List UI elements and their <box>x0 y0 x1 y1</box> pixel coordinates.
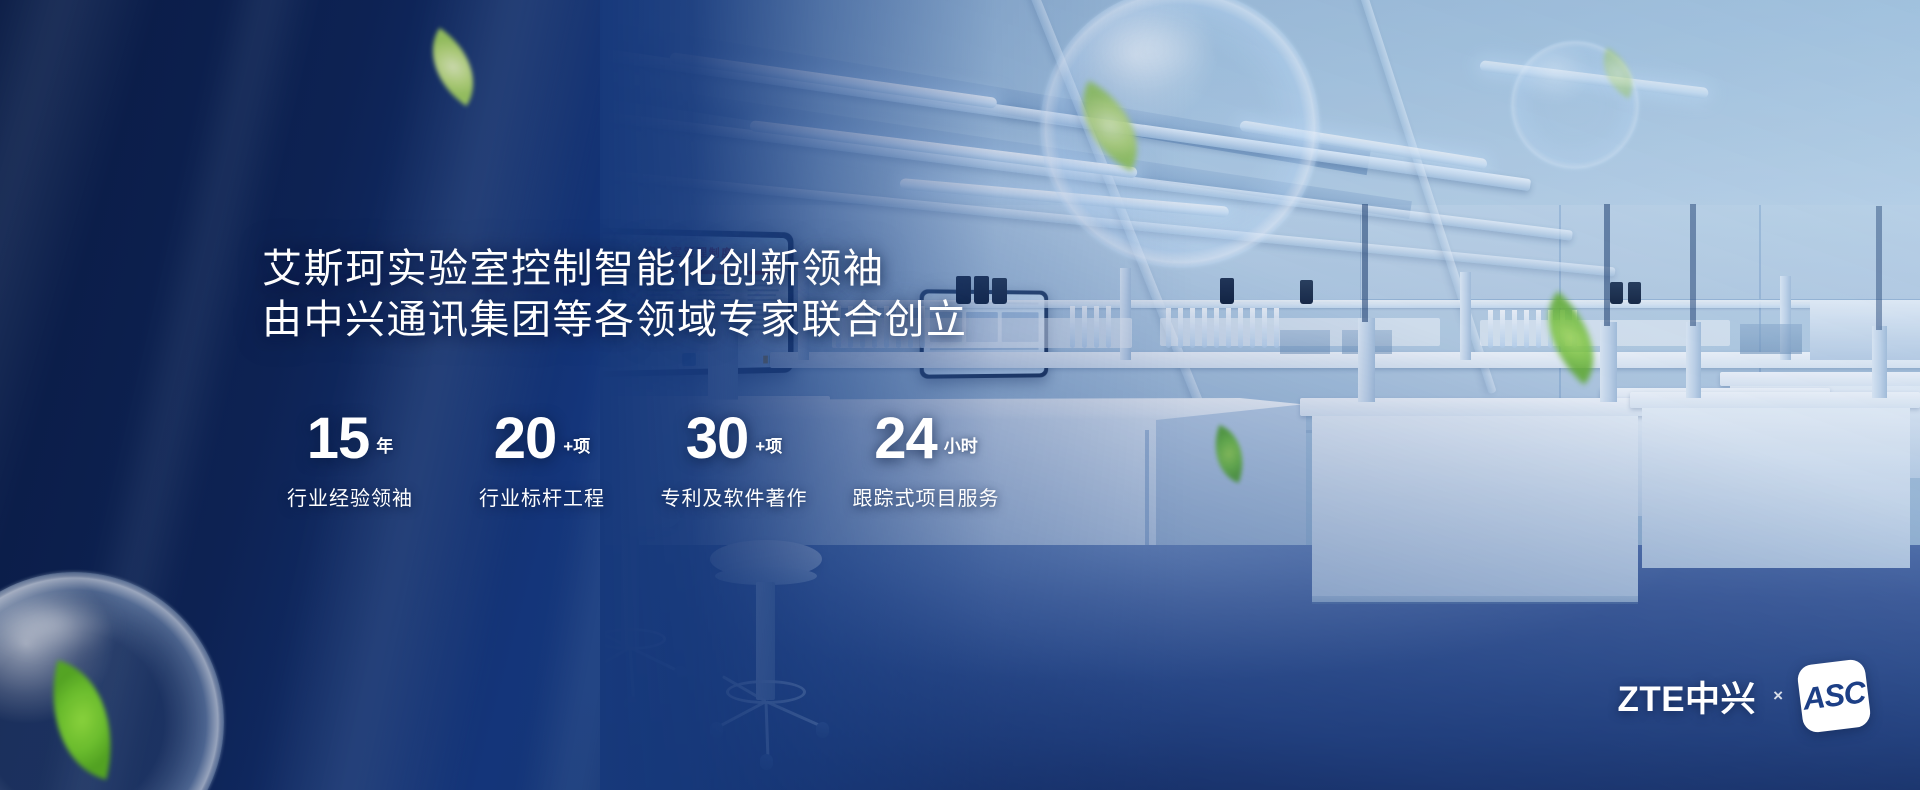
stat-unit-1: 年 <box>376 432 393 457</box>
stat-label-3: 专利及软件著作 <box>638 482 830 511</box>
stat-item-4: 24 小时 跟踪式项目服务 <box>830 408 1022 511</box>
brand-lockup: ZTE中兴 × ASC <box>1617 662 1868 730</box>
zte-logo-text: ZTE中兴 <box>1617 671 1756 722</box>
stat-label-1: 行业经验领袖 <box>254 482 446 511</box>
stat-label-4: 跟踪式项目服务 <box>830 482 1022 511</box>
asc-logo-text: ASC <box>1801 674 1867 717</box>
stat-unit-3: +项 <box>755 432 782 457</box>
stat-item-3: 30 +项 专利及软件著作 <box>638 408 830 511</box>
stat-number-1: 15 <box>307 408 370 470</box>
headline-line-2: 由中兴通讯集团等各领域专家联合创立 <box>262 295 968 346</box>
asc-logo: ASC <box>1796 658 1872 734</box>
stat-unit-2: +项 <box>563 432 590 457</box>
stat-label-2: 行业标杆工程 <box>446 482 638 511</box>
stat-item-1: 15 年 行业经验领袖 <box>254 408 446 511</box>
stat-number-3: 30 <box>686 408 749 470</box>
brand-separator-icon: × <box>1773 686 1783 706</box>
stat-number-2: 20 <box>494 408 557 470</box>
stat-unit-4: 小时 <box>944 432 978 457</box>
headline-line-1: 艾斯珂实验室控制智能化创新领袖 <box>262 244 968 295</box>
headline: 艾斯珂实验室控制智能化创新领袖 由中兴通讯集团等各领域专家联合创立 <box>262 244 968 346</box>
hero-banner: 实验室管理制度 <box>0 0 1920 790</box>
stat-item-2: 20 +项 行业标杆工程 <box>446 408 638 511</box>
stats-row: 15 年 行业经验领袖 20 +项 行业标杆工程 30 +项 专利及软件著作 <box>254 408 1022 511</box>
stat-number-4: 24 <box>874 408 937 470</box>
